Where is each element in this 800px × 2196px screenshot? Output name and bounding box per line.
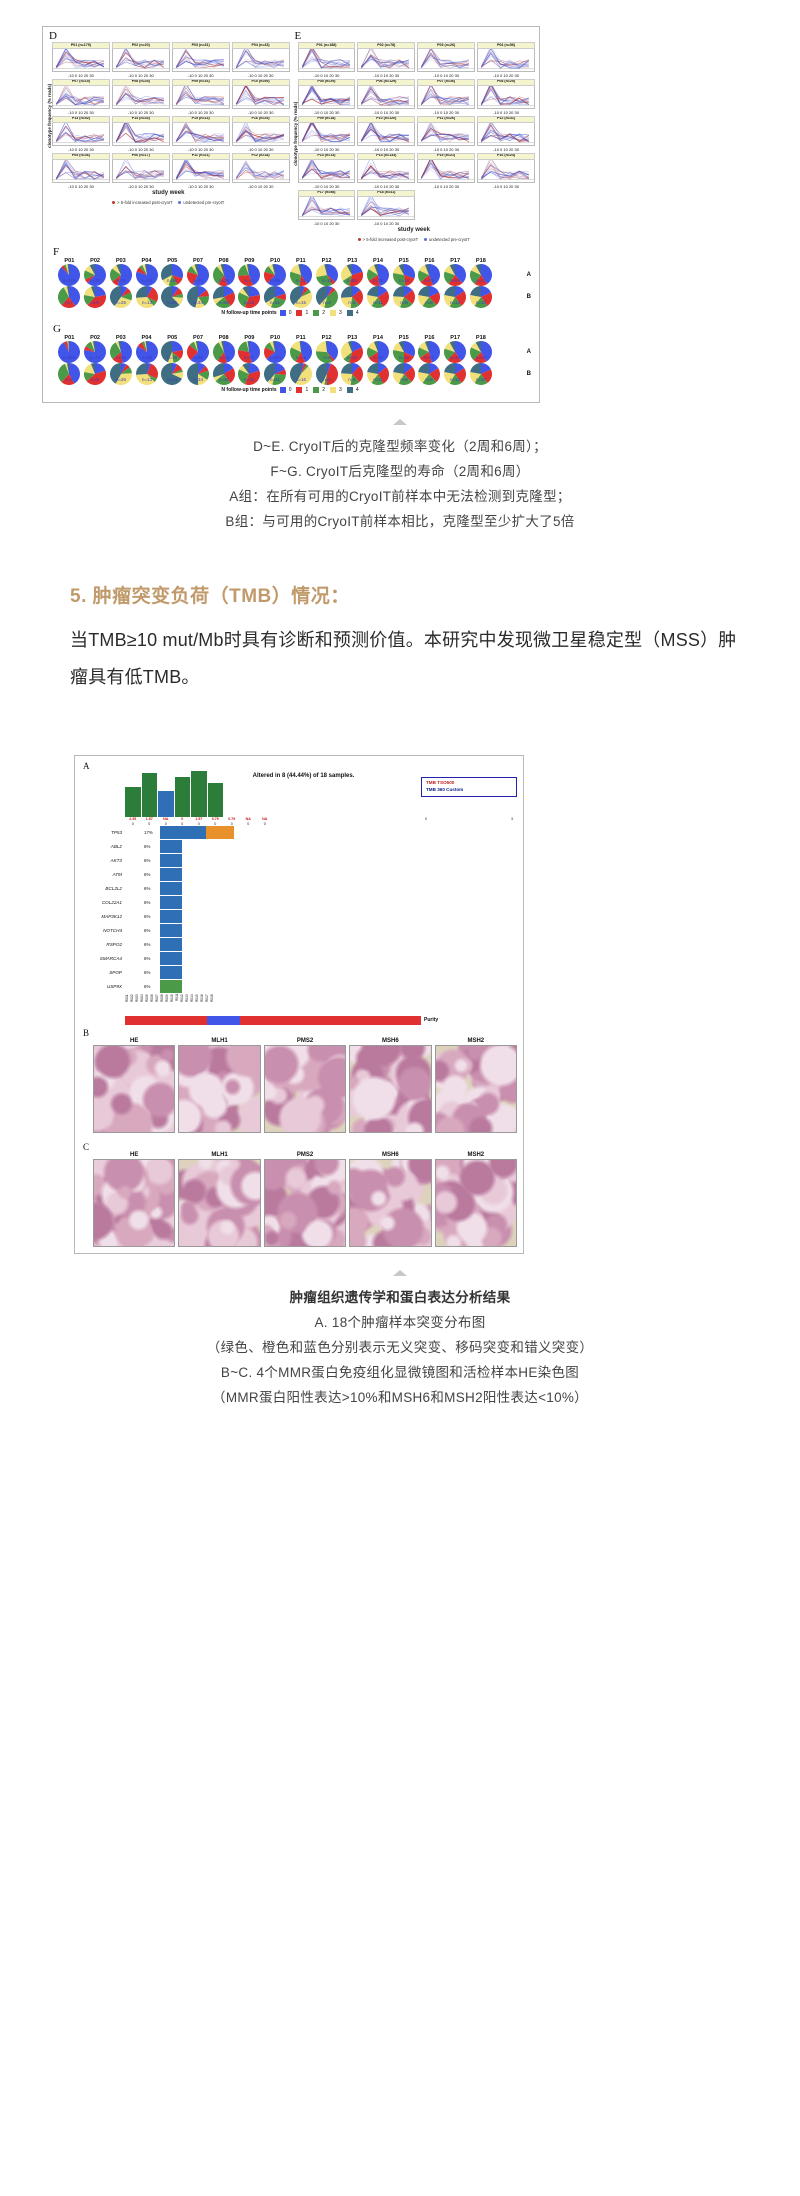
sample-label: R009 [165, 994, 169, 1014]
panel-d-legend: > 5-fold increased post-cryoIT undetecte… [47, 200, 290, 205]
svg-text:n=15: n=15 [244, 300, 254, 305]
sparkline-xticks: -10 0 10 20 30 [112, 110, 170, 115]
panel-d-sparkline-grid: P01 (n=179)-10 0 10 20 30P02 (n=20)-10 0… [52, 42, 290, 189]
sparkline-title: P13 (n=13) [298, 153, 356, 160]
svg-text:n=31: n=31 [116, 278, 126, 283]
sparkline-plot [52, 160, 110, 183]
pie-chart: n=18 [314, 264, 339, 286]
sparkline-xticks: -10 0 10 20 30 [357, 147, 415, 152]
pie-chart: n=15 [237, 286, 262, 308]
svg-text:n=9: n=9 [426, 377, 434, 382]
pie-chart: n=6 [314, 341, 339, 363]
sparkline-title: P09 (n=16) [172, 79, 230, 86]
pie-chart: n=12 [391, 341, 416, 363]
svg-text:n=10: n=10 [347, 355, 357, 360]
figure-1-caption: D~E. CryoIT后的克隆型频率变化（2周和6周）； F~G. CryoIT… [0, 435, 800, 535]
pie-legend-title: N follow-up time points [221, 387, 276, 393]
ihc-image [93, 1045, 175, 1133]
sparkline-plot [477, 123, 535, 146]
pie-legend-label: 0 [289, 310, 292, 316]
ihc-image [264, 1045, 346, 1133]
pie-chart: n=16 [160, 286, 185, 308]
sparkline-plot [112, 160, 170, 183]
svg-text:n=359: n=359 [63, 355, 76, 360]
tmb-bar [175, 777, 191, 817]
pie-legend-label: 4 [356, 387, 359, 393]
pie-chart: n=31 [108, 264, 133, 286]
pie-chart: n=19 [160, 341, 185, 363]
pie-chart: n=33 [366, 264, 391, 286]
pie-chart: n=25 [211, 264, 236, 286]
sparkline-title: P03 (n=26) [417, 42, 475, 49]
clonotype-sparkline: P09 (n=16)-10 0 10 20 30 [172, 79, 230, 115]
gene-label: COL22A1 [81, 896, 125, 910]
sparkline-xticks: -10 0 10 20 30 [357, 73, 415, 78]
sparkline-plot [357, 123, 415, 146]
pie-chart: n=14 [160, 363, 185, 385]
caption1-line3: A组：在所有可用的CryoIT前样本中无法检测到克隆型； [0, 485, 800, 510]
svg-text:n=11: n=11 [373, 300, 383, 305]
clonotype-sparkline: P09 (n=18)-10 0 10 20 30 [298, 116, 356, 152]
pie-chart: n=9 [83, 363, 108, 385]
figure-2: A Altered in 8 (44.44%) of 18 samples. T… [74, 755, 524, 1253]
caption2-line3: B~C. 4个MMR蛋白免疫组化显微镜图和活检样本HE染色图 [0, 1361, 800, 1386]
svg-text:n=25: n=25 [425, 278, 435, 283]
pie-chart: n=56 [134, 341, 159, 363]
svg-text:n=22: n=22 [425, 355, 435, 360]
pie-chart: n=4 [340, 363, 365, 385]
ihc-image [178, 1159, 260, 1247]
gene-percent: 6% [142, 924, 160, 938]
ihc-image [93, 1159, 175, 1247]
svg-text:n=21: n=21 [270, 377, 280, 382]
caption2-line2: （绿色、橙色和蓝色分别表示无义突变、移码突变和错义突变） [0, 1336, 800, 1361]
tmb-value-black [340, 822, 356, 826]
sparkline-xticks: -10 0 10 20 30 [112, 73, 170, 78]
sparkline-title: P12 (n=31) [477, 116, 535, 123]
svg-text:n=11: n=11 [373, 377, 383, 382]
tmb-value-rows: 2.351.57NA01.570.790.79NANA000000000 [125, 817, 421, 825]
sparkline-plot [417, 86, 475, 109]
sparkline-title: P03 (n=31) [172, 42, 230, 49]
svg-text:n=12: n=12 [450, 377, 460, 382]
sparkline-xticks: -10 0 10 20 30 [298, 110, 356, 115]
sparkline-title: P09 (n=18) [298, 116, 356, 123]
sparkline-title: P05 (n=36) [52, 153, 110, 160]
svg-text:n=19: n=19 [167, 355, 177, 360]
sparkline-plot [172, 49, 230, 72]
sparkline-xticks: -10 0 10 20 30 [477, 73, 535, 78]
ihc-header: PMS2 [264, 1038, 346, 1044]
pie-chart: n=9 [83, 286, 108, 308]
sparkline-title: P16 (n=25) [232, 116, 290, 123]
svg-text:n=52: n=52 [347, 278, 357, 283]
panel-e-legend: > 5-fold increased post-cryoIT undetecte… [293, 237, 536, 242]
svg-text:n=10: n=10 [476, 300, 486, 305]
sparkline-plot [417, 123, 475, 146]
sparkline-title: P10 (n=120) [357, 116, 415, 123]
svg-text:n=9: n=9 [91, 377, 99, 382]
sparkline-title: P06 (n=129) [357, 79, 415, 86]
panel-c-letter: C [81, 1143, 517, 1152]
svg-text:n=21: n=21 [296, 278, 306, 283]
sparkline-plot [232, 160, 290, 183]
pie-legend-label: 1 [305, 310, 308, 316]
panel-b-ihc: B HEMLH1PMS2MSH6MSH2 [81, 1029, 517, 1133]
gene-percent: 6% [142, 854, 160, 868]
mutation-grid [125, 826, 142, 994]
sparkline-title: P10 (n=95) [232, 79, 290, 86]
oncoprint-title: Altered in 8 (44.44%) of 18 samples. [253, 773, 355, 779]
pie-chart: n=21 [263, 363, 288, 385]
svg-text:n=121: n=121 [269, 355, 282, 360]
clonotype-sparkline: P05 (n=36)-10 0 10 20 30 [52, 153, 110, 189]
pie-chart: n=30 [211, 363, 236, 385]
panel-b-letter: B [81, 1029, 517, 1038]
pie-chart: n=20 [83, 264, 108, 286]
pie-legend-swatch-icon [313, 310, 319, 316]
ihc-header: MSH2 [435, 1152, 517, 1158]
tmb-value-black [373, 822, 389, 826]
pie-legend-swatch-icon [330, 387, 336, 393]
svg-text:n=15: n=15 [296, 300, 306, 305]
panel-g-row-a-tag: A [527, 349, 531, 355]
sparkline-plot [357, 86, 415, 109]
clonotype-sparkline: P12 (n=31)-10 0 10 20 30 [477, 116, 535, 152]
clonotype-sparkline: P18 (n=41)-10 0 10 20 30 [357, 190, 415, 226]
sparkline-xticks: -10 0 10 20 30 [232, 110, 290, 115]
gene-frequency-bar [160, 882, 238, 895]
tmb-bar [158, 791, 174, 817]
sparkline-xticks: -10 0 10 20 30 [417, 184, 475, 189]
gene-label: AKT3 [81, 854, 125, 868]
svg-text:n=34: n=34 [193, 377, 203, 382]
caption1-line2: F~G. CryoIT后克隆型的寿命（2周和6周） [0, 460, 800, 485]
gene-frequency-bar [160, 938, 238, 951]
svg-text:n=13: n=13 [142, 377, 152, 382]
sparkline-plot [298, 86, 356, 109]
gene-frequency-bar [160, 952, 238, 965]
caption2-line1: A. 18个肿瘤样本突变分布图 [0, 1311, 800, 1336]
pie-chart: n=34 [186, 286, 211, 308]
pie-chart: n=15 [288, 341, 313, 363]
legend-label-increased: > 5-fold increased post-cryoIT [363, 237, 418, 242]
panel-g: G P01P02P03P04P05P07P08P09P10P11P12P13P1… [47, 319, 535, 396]
tmb-legend-box: TMB TSO500 TMB 360 Custom [421, 777, 517, 796]
right-axis-min: 0 [425, 817, 427, 825]
sample-label: R002 [130, 994, 134, 1014]
gene-label: USP9X [81, 980, 125, 994]
panel-g-row-b-tag: B [527, 371, 531, 377]
pie-chart: n=21 [263, 286, 288, 308]
panel-g-legend: N follow-up time points01234 [51, 387, 531, 393]
pie-legend-label: 0 [289, 387, 292, 393]
clonotype-sparkline: P03 (n=31)-10 0 10 20 30 [172, 42, 230, 78]
pie-chart: n=26 [186, 341, 211, 363]
pie-chart: n=15 [237, 363, 262, 385]
clonotype-sparkline: P01 (n=179)-10 0 10 20 30 [52, 42, 110, 78]
pie-chart: n=9 [417, 363, 442, 385]
sparkline-xticks: -10 0 10 20 30 [112, 184, 170, 189]
pie-chart: n=25 [417, 264, 442, 286]
caption1-line1: D~E. CryoIT后的克隆型频率变化（2周和6周）； [0, 435, 800, 460]
svg-text:n=33: n=33 [373, 278, 383, 283]
ihc-header: MLH1 [178, 1152, 260, 1158]
ihc-header: MSH2 [435, 1038, 517, 1044]
panel-f-row-b-tag: B [527, 294, 531, 300]
ihc-header: MSH6 [349, 1038, 431, 1044]
sparkline-xticks: -10 0 10 20 30 [52, 73, 110, 78]
svg-text:n=16: n=16 [296, 377, 306, 382]
ihc-image [435, 1159, 517, 1247]
pie-chart: n=36 [469, 341, 494, 363]
sample-label: R004 [140, 994, 144, 1014]
pie-chart: n=2 [314, 363, 339, 385]
divider-triangle-icon-2 [393, 1270, 407, 1276]
sample-label: R005 [145, 994, 149, 1014]
clonotype-sparkline: P07 (n=15)-10 0 10 20 30 [52, 79, 110, 115]
sparkline-xticks: -10 0 10 20 30 [417, 110, 475, 115]
svg-text:n=14: n=14 [167, 377, 177, 382]
panel-e: E clonotype frequency (% reads) P01 (n=1… [293, 31, 536, 242]
sparkline-title: P08 (n=25) [477, 79, 535, 86]
sparkline-plot [298, 160, 356, 183]
legend-label-increased: > 5-fold increased post-cryoIT [117, 200, 172, 205]
sparkline-xticks: -10 0 10 20 30 [417, 147, 475, 152]
sparkline-plot [298, 123, 356, 146]
sparkline-xticks: -10 0 10 20 30 [357, 221, 415, 226]
sparkline-title: P14 (n=133) [357, 153, 415, 160]
gene-frequency-bar [160, 980, 238, 993]
sparkline-title: P12 (n=18) [232, 153, 290, 160]
sparkline-xticks: -10 0 10 20 30 [232, 73, 290, 78]
pie-chart: n=15 [288, 286, 313, 308]
sample-label: R010 [170, 994, 174, 1014]
pie-chart: n=12 [443, 363, 468, 385]
pie-chart: n=9 [417, 286, 442, 308]
panels-d-e: D clonotype frequency (% reads) P01 (n=1… [47, 31, 535, 242]
svg-text:n=179: n=179 [63, 278, 76, 283]
sparkline-plot [477, 86, 535, 109]
svg-text:n=18: n=18 [322, 278, 332, 283]
pie-chart: n=10 [469, 286, 494, 308]
section-5-heading: 5. 肿瘤突变负荷（TMB）情况： [70, 581, 800, 608]
svg-text:n=21: n=21 [270, 300, 280, 305]
sparkline-xticks: -10 0 10 20 30 [232, 147, 290, 152]
pie-chart: n=21 [288, 264, 313, 286]
sparkline-plot [417, 49, 475, 72]
sample-label: R011 [175, 994, 179, 1014]
panel-a-oncoprint: A Altered in 8 (44.44%) of 18 samples. T… [81, 762, 517, 1024]
tmb-value-black [323, 822, 339, 826]
sparkline-xticks: -10 0 10 20 30 [298, 147, 356, 152]
svg-text:n=30: n=30 [373, 355, 383, 360]
gene-label-column: TP53ABL2AKT3ATMBCL2L2COL22A1MAP3K12NOTCH… [81, 826, 125, 994]
sparkline-xticks: -10 0 10 20 30 [172, 110, 230, 115]
tmb-value-black [389, 822, 405, 826]
ihc-image [435, 1045, 517, 1133]
article-page: D clonotype frequency (% reads) P01 (n=1… [0, 26, 800, 1451]
sparkline-title: P17 (n=58) [298, 190, 356, 197]
svg-text:n=56: n=56 [142, 355, 152, 360]
clonotype-sparkline: P01 (n=188)-10 0 10 20 30 [298, 42, 356, 78]
clonotype-sparkline: P15 (n=14)-10 0 10 20 30 [172, 116, 230, 152]
clonotype-sparkline: P15 (n=21)-10 0 10 20 30 [417, 153, 475, 189]
tmb-legend-tso500: TMB TSO500 [426, 780, 512, 787]
sparkline-title: P07 (n=36) [417, 79, 475, 86]
pie-legend-swatch-icon [347, 387, 353, 393]
pie-chart: n=179 [57, 264, 82, 286]
pie-chart: n=7 [57, 286, 82, 308]
pie-chart: n=41 [469, 264, 494, 286]
sparkline-plot [112, 123, 170, 146]
pie-chart: n=44 [211, 341, 236, 363]
ihc-image [349, 1045, 431, 1133]
svg-text:n=34: n=34 [193, 300, 203, 305]
panel-c-headers: HEMLH1PMS2MSH6MSH2 [81, 1152, 517, 1158]
sample-label: R016 [200, 994, 204, 1014]
clonotype-sparkline: P10 (n=120)-10 0 10 20 30 [357, 116, 415, 152]
clonotype-sparkline: P16 (n=24)-10 0 10 20 30 [477, 153, 535, 189]
pie-legend-swatch-icon [347, 310, 353, 316]
sparkline-plot [232, 123, 290, 146]
pie-chart: n=16 [288, 363, 313, 385]
svg-text:n=16: n=16 [167, 300, 177, 305]
gene-frequency-bars [160, 826, 238, 994]
caption2-line4: （MMR蛋白阳性表达>10%和MSH6和MSH2阳性表达<10%） [0, 1386, 800, 1411]
panel-g-row-a: A n=359n=74n=26n=56n=19n=26n=44n=27n=121… [51, 341, 531, 363]
panel-f-row-a: A n=179n=20n=31n=43n=36n=15n=25n=16n=95n… [51, 264, 531, 286]
svg-text:n=5: n=5 [66, 377, 74, 382]
ihc-image [264, 1159, 346, 1247]
panel-b-images [81, 1045, 517, 1133]
gene-frequency-bar [160, 840, 238, 853]
sample-label: R007 [155, 994, 159, 1014]
pie-chart: n=36 [160, 264, 185, 286]
sparkline-xticks: -10 0 10 20 30 [298, 184, 356, 189]
sparkline-xticks: -10 0 10 20 30 [298, 221, 356, 226]
svg-text:n=12: n=12 [450, 300, 460, 305]
sample-label: R006 [150, 994, 154, 1014]
tmb-bar [125, 787, 141, 817]
sparkline-title: P11 (n=26) [417, 116, 475, 123]
svg-text:n=30: n=30 [219, 300, 229, 305]
clonotype-sparkline: P04 (n=43)-10 0 10 20 30 [232, 42, 290, 78]
clonotype-sparkline: P16 (n=25)-10 0 10 20 30 [232, 116, 290, 152]
sample-label: R003 [135, 994, 139, 1014]
pie-chart: n=16 [237, 264, 262, 286]
section-5-body: 当TMB≥10 mut/Mb时具有诊断和预测价值。本研究中发现微卫星稳定型（MS… [70, 622, 738, 696]
clonotype-sparkline: P10 (n=95)-10 0 10 20 30 [232, 79, 290, 115]
sparkline-title: P16 (n=24) [477, 153, 535, 160]
tmb-bar [191, 771, 207, 817]
tmb-legend-360: TMB 360 Custom [426, 787, 512, 794]
sparkline-xticks: -10 0 10 20 30 [232, 184, 290, 189]
ihc-header: MLH1 [178, 1038, 260, 1044]
gene-percent: 17% [142, 826, 160, 840]
sparkline-plot [232, 49, 290, 72]
svg-text:n=41: n=41 [476, 278, 486, 283]
sparkline-title: P13 (n=52) [52, 116, 110, 123]
pie-chart: n=14 [391, 264, 416, 286]
sparkline-xticks: -10 0 10 20 30 [172, 147, 230, 152]
sparkline-title: P11 (n=21) [172, 153, 230, 160]
ihc-header: PMS2 [264, 1152, 346, 1158]
sparkline-xticks: -10 0 10 20 30 [417, 73, 475, 78]
sparkline-plot [232, 86, 290, 109]
pie-legend-swatch-icon [296, 387, 302, 393]
clonotype-sparkline: P11 (n=26)-10 0 10 20 30 [417, 116, 475, 152]
gene-percent: 6% [142, 840, 160, 854]
svg-text:n=26: n=26 [193, 355, 203, 360]
figure-2-caption: 肿瘤组织遗传学和蛋白表达分析结果 A. 18个肿瘤样本突变分布图 （绿色、橙色和… [0, 1286, 800, 1451]
legend-dot-increased-icon [112, 201, 115, 204]
sparkline-plot [357, 197, 415, 220]
sparkline-xticks: -10 0 10 20 30 [172, 184, 230, 189]
pie-legend-swatch-icon [313, 387, 319, 393]
sparkline-xticks: -10 0 10 20 30 [477, 110, 535, 115]
gene-percent: 6% [142, 980, 160, 994]
tmb-value-black [290, 822, 306, 826]
svg-text:n=4: n=4 [349, 300, 357, 305]
pie-legend-label: 2 [322, 310, 325, 316]
gene-frequency-bar [160, 868, 238, 881]
purity-bar [125, 1016, 421, 1025]
pie-chart: n=34 [186, 363, 211, 385]
pie-chart: n=4 [340, 286, 365, 308]
pie-chart: n=27 [237, 341, 262, 363]
panel-f-legend: N follow-up time points01234 [51, 310, 531, 316]
sparkline-plot [417, 160, 475, 183]
svg-text:n=15: n=15 [296, 355, 306, 360]
pie-chart: n=13 [134, 286, 159, 308]
sparkline-xticks: -10 0 10 20 30 [298, 73, 356, 78]
sample-label: R012 [180, 994, 184, 1014]
pie-chart: n=26 [108, 341, 133, 363]
sparkline-xticks: -10 0 10 20 30 [172, 73, 230, 78]
svg-text:n=27: n=27 [244, 355, 254, 360]
sample-label: R017 [205, 994, 209, 1014]
right-axis-max: 3 [511, 817, 513, 825]
pie-legend-label: 4 [356, 310, 359, 316]
pie-chart: n=26 [108, 286, 133, 308]
sparkline-plot [172, 160, 230, 183]
gene-frequency-bar [160, 826, 238, 839]
sample-label: R008 [160, 994, 164, 1014]
gene-label: SMARCA4 [81, 952, 125, 966]
ihc-image [349, 1159, 431, 1247]
sample-label: R013 [185, 994, 189, 1014]
sparkline-title: P14 (n=33) [112, 116, 170, 123]
sparkline-title: P01 (n=188) [298, 42, 356, 49]
sparkline-plot [477, 49, 535, 72]
svg-text:n=36: n=36 [167, 278, 177, 283]
pie-legend-swatch-icon [330, 310, 336, 316]
panel-a-letter: A [81, 762, 517, 771]
pie-chart: n=359 [57, 341, 82, 363]
sparkline-plot [298, 49, 356, 72]
gene-label: SPOP [81, 966, 125, 980]
pie-chart: n=11 [366, 286, 391, 308]
pie-chart: n=95 [263, 264, 288, 286]
clonotype-sparkline: P07 (n=36)-10 0 10 20 30 [417, 79, 475, 115]
panel-e-xlabel: study week [293, 227, 536, 233]
sparkline-xticks: -10 0 10 20 30 [357, 184, 415, 189]
gene-label: MAP3K12 [81, 910, 125, 924]
sparkline-title: P18 (n=41) [357, 190, 415, 197]
clonotype-sparkline: P13 (n=52)-10 0 10 20 30 [52, 116, 110, 152]
panel-c-ihc: C HEMLH1PMS2MSH6MSH2 [81, 1143, 517, 1247]
